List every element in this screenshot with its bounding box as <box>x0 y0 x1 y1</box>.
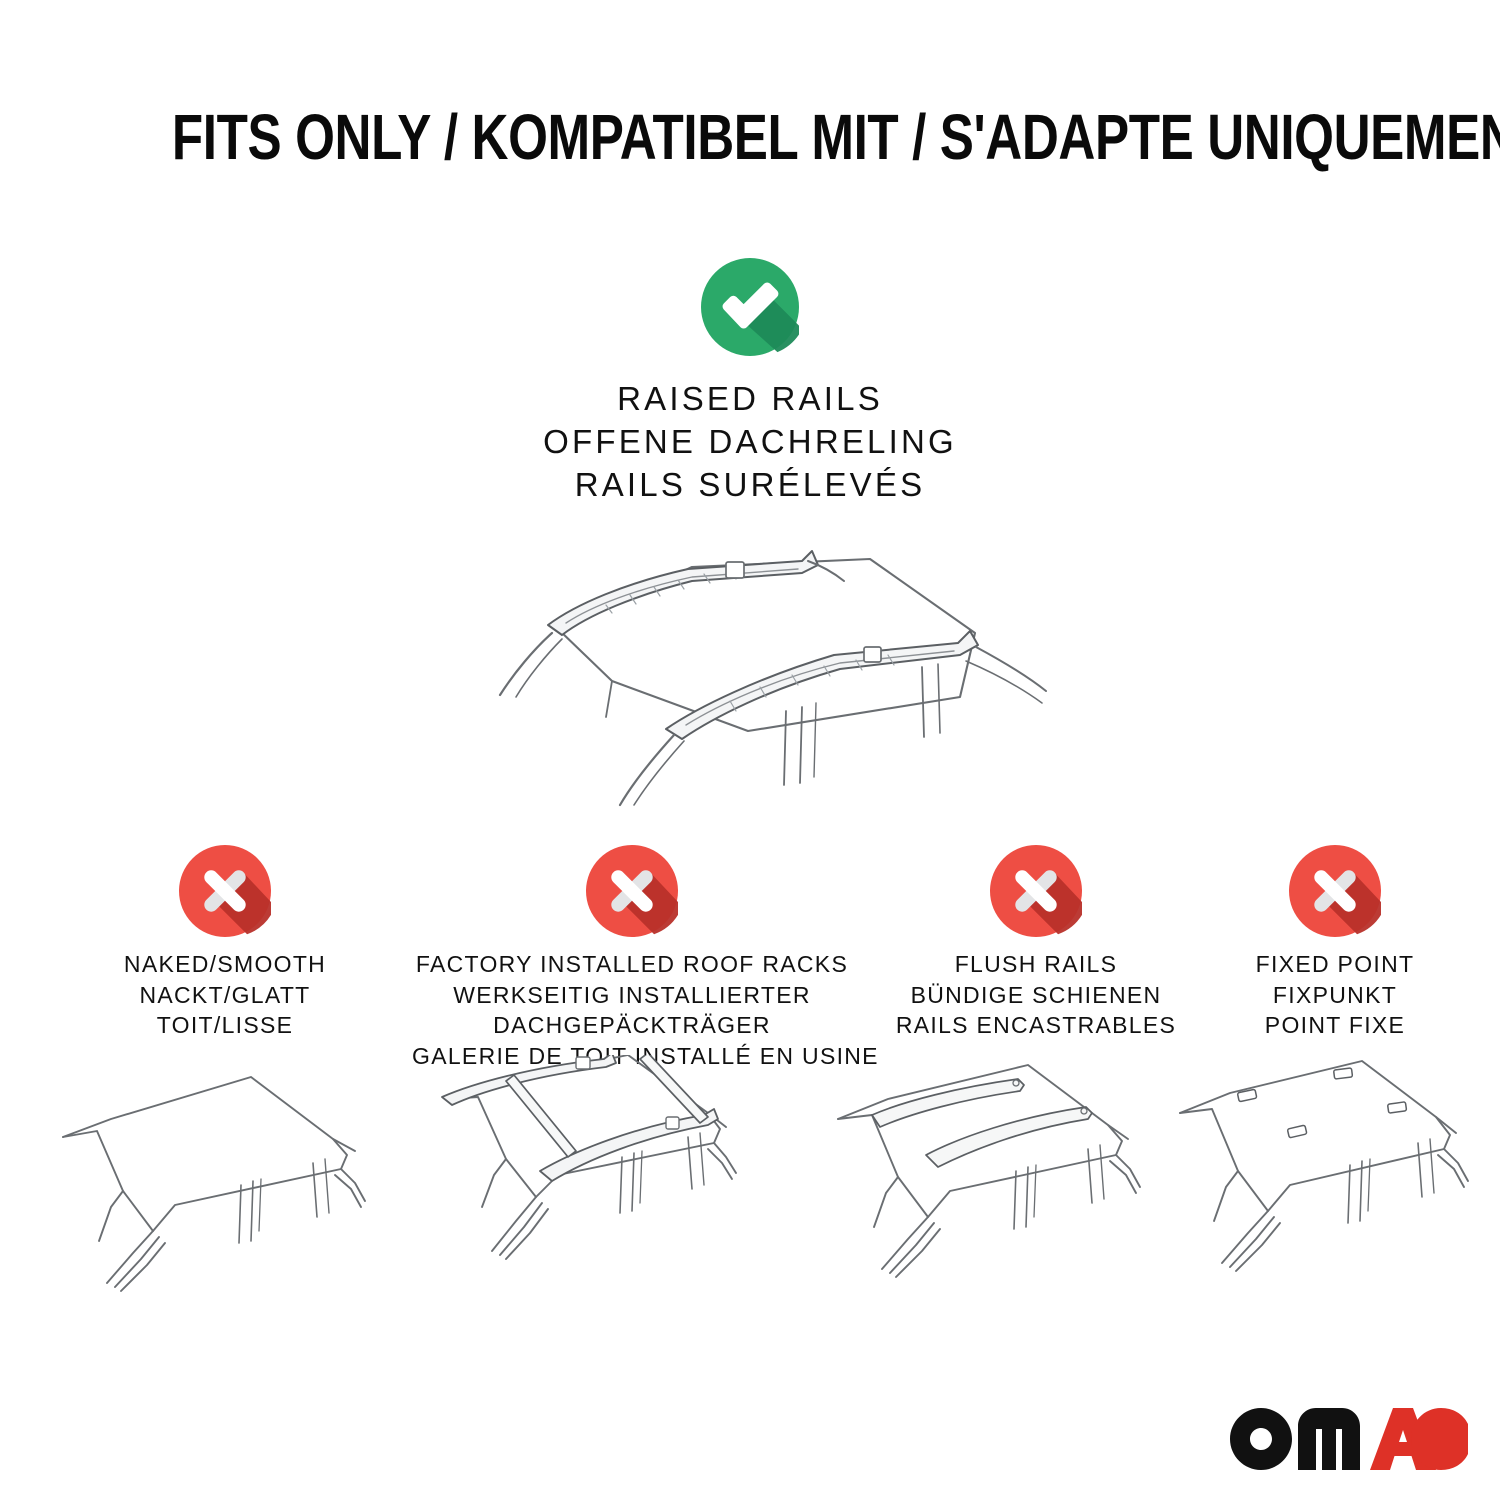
incompatible-item-naked-smooth: NAKED/SMOOTH NACKT/GLATT TOIT/LISSE <box>75 845 375 1041</box>
label-line-de-1: WERKSEITIG INSTALLIERTER <box>412 980 852 1011</box>
x-circle-icon <box>990 845 1082 937</box>
incompatible-label: FIXED POINT FIXPUNKT POINT FIXE <box>1200 949 1470 1041</box>
label-line-de: NACKT/GLATT <box>75 980 375 1011</box>
label-line-fr: RAILS ENCASTRABLES <box>862 1010 1210 1041</box>
car-roof-flush-rails-illustration <box>828 1055 1178 1305</box>
label-line-en: FIXED POINT <box>1200 949 1470 980</box>
label-line-de: FIXPUNKT <box>1200 980 1470 1011</box>
label-line-fr: POINT FIXE <box>1200 1010 1470 1041</box>
omac-logo <box>1230 1408 1468 1470</box>
incompatible-label: NAKED/SMOOTH NACKT/GLATT TOIT/LISSE <box>75 949 375 1041</box>
incompatible-item-fixed-point: FIXED POINT FIXPUNKT POINT FIXE <box>1200 845 1470 1041</box>
label-line-en: FLUSH RAILS <box>862 949 1210 980</box>
compatible-label: RAISED RAILS OFFENE DACHRELING RAILS SUR… <box>0 378 1500 507</box>
page-title-text: FITS ONLY / KOMPATIBEL MIT / S'ADAPTE UN… <box>172 104 1500 171</box>
label-line-en: NAKED/SMOOTH <box>75 949 375 980</box>
car-roof-raised-rails-illustration <box>0 521 1500 821</box>
incompatible-label: FACTORY INSTALLED ROOF RACKS WERKSEITIG … <box>412 949 852 1071</box>
x-circle-icon <box>179 845 271 937</box>
x-circle-icon <box>1289 845 1381 937</box>
compatible-label-line-fr: RAILS SURÉLEVÉS <box>0 464 1500 507</box>
incompatible-item-flush-rails: FLUSH RAILS BÜNDIGE SCHIENEN RAILS ENCAS… <box>862 845 1210 1041</box>
compatible-label-line-en: RAISED RAILS <box>0 378 1500 421</box>
check-circle-icon <box>701 258 799 356</box>
compatible-label-line-de: OFFENE DACHRELING <box>0 421 1500 464</box>
label-line-de: BÜNDIGE SCHIENEN <box>862 980 1210 1011</box>
compatible-section: RAISED RAILS OFFENE DACHRELING RAILS SUR… <box>0 258 1500 821</box>
incompatible-item-factory-roof-racks: FACTORY INSTALLED ROOF RACKS WERKSEITIG … <box>412 845 852 1071</box>
page-title: FITS ONLY / KOMPATIBEL MIT / S'ADAPTE UN… <box>0 104 1500 171</box>
car-roof-factory-racks-illustration <box>408 1055 778 1305</box>
label-line-de-2: DACHGEPÄCKTRÄGER <box>412 1010 852 1041</box>
car-roof-naked-illustration <box>55 1055 395 1305</box>
incompatible-label: FLUSH RAILS BÜNDIGE SCHIENEN RAILS ENCAS… <box>862 949 1210 1041</box>
incompatible-illustrations-row <box>0 1055 1500 1325</box>
label-line-en: FACTORY INSTALLED ROOF RACKS <box>412 949 852 980</box>
label-line-fr: TOIT/LISSE <box>75 1010 375 1041</box>
x-circle-icon <box>586 845 678 937</box>
car-roof-fixed-point-illustration <box>1172 1055 1492 1305</box>
